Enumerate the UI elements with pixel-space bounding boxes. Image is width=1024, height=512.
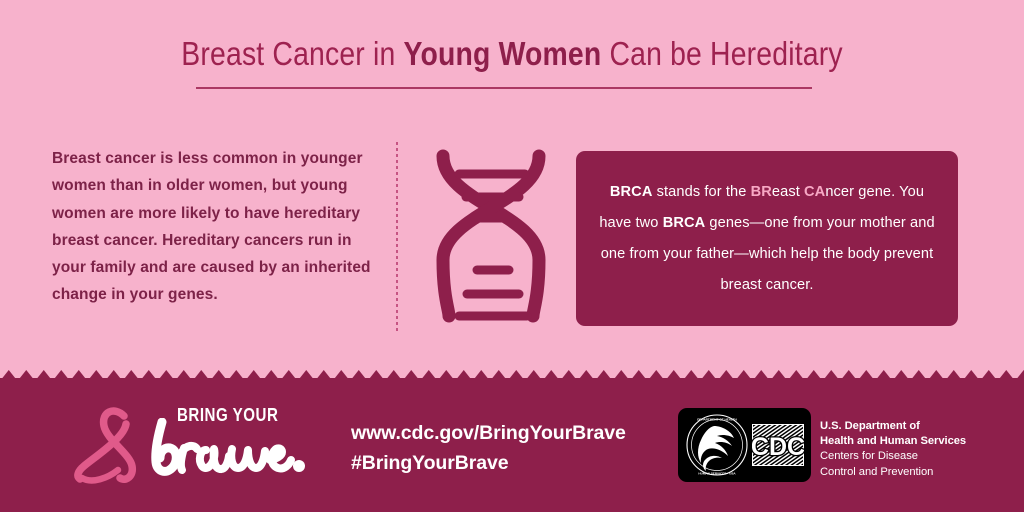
agency-line-1: U.S. Department of (820, 419, 966, 434)
brca-seg-1: BRCA (610, 184, 653, 200)
brca-seg-2: stands for the (652, 184, 750, 200)
hashtag[interactable]: #BringYourBrave (351, 448, 626, 478)
agency-line-3: Centers for Disease (820, 449, 966, 464)
title-part-1: Breast Cancer in (181, 35, 403, 72)
brca-definition-card: BRCA stands for the BReast CAncer gene. … (576, 151, 958, 326)
vertical-dotted-divider (396, 142, 398, 332)
intro-paragraph: Breast cancer is less common in younger … (52, 145, 382, 309)
agency-line-4: Control and Prevention (820, 465, 966, 480)
byb-script-wordmark (148, 418, 308, 482)
svg-text:HUMAN SERVICES · USA: HUMAN SERVICES · USA (698, 471, 736, 475)
brca-seg-7: BRCA (663, 215, 706, 231)
dna-helix-icon (421, 144, 561, 330)
title-text: Breast Cancer in Young Women Can be Here… (72, 34, 953, 74)
title-underline-rule (196, 87, 812, 89)
title-emphasis: Young Women (403, 35, 601, 72)
bring-your-brave-logo: BRING YOUR (148, 400, 308, 486)
infographic-root: Breast Cancer in Young Women Can be Here… (0, 0, 1024, 512)
cdc-logo: DEPARTMENT OF HEALTH HUMAN SERVICES · US… (678, 408, 811, 482)
agency-name-block: U.S. Department of Health and Human Serv… (820, 419, 966, 480)
brca-seg-5: CA (804, 184, 825, 200)
svg-text:DEPARTMENT OF HEALTH: DEPARTMENT OF HEALTH (697, 418, 737, 422)
brca-seg-3: BR (751, 184, 772, 200)
byb-period-dot (293, 460, 305, 472)
agency-line-2: Health and Human Services (820, 434, 966, 449)
title-part-2: Can be Hereditary (601, 35, 842, 72)
url-block: www.cdc.gov/BringYourBrave #BringYourBra… (351, 418, 626, 478)
page-title: Breast Cancer in Young Women Can be Here… (0, 34, 1024, 74)
hhs-seal-icon: DEPARTMENT OF HEALTH HUMAN SERVICES · US… (684, 412, 750, 478)
cdc-mark-text: CDC (752, 433, 804, 461)
cdc-url[interactable]: www.cdc.gov/BringYourBrave (351, 418, 626, 448)
cdc-mark: CDC (752, 424, 804, 466)
brca-definition-text: BRCA stands for the BReast CAncer gene. … (593, 177, 941, 301)
pink-ribbon-icon (74, 404, 146, 486)
brca-seg-4: east (772, 184, 804, 200)
